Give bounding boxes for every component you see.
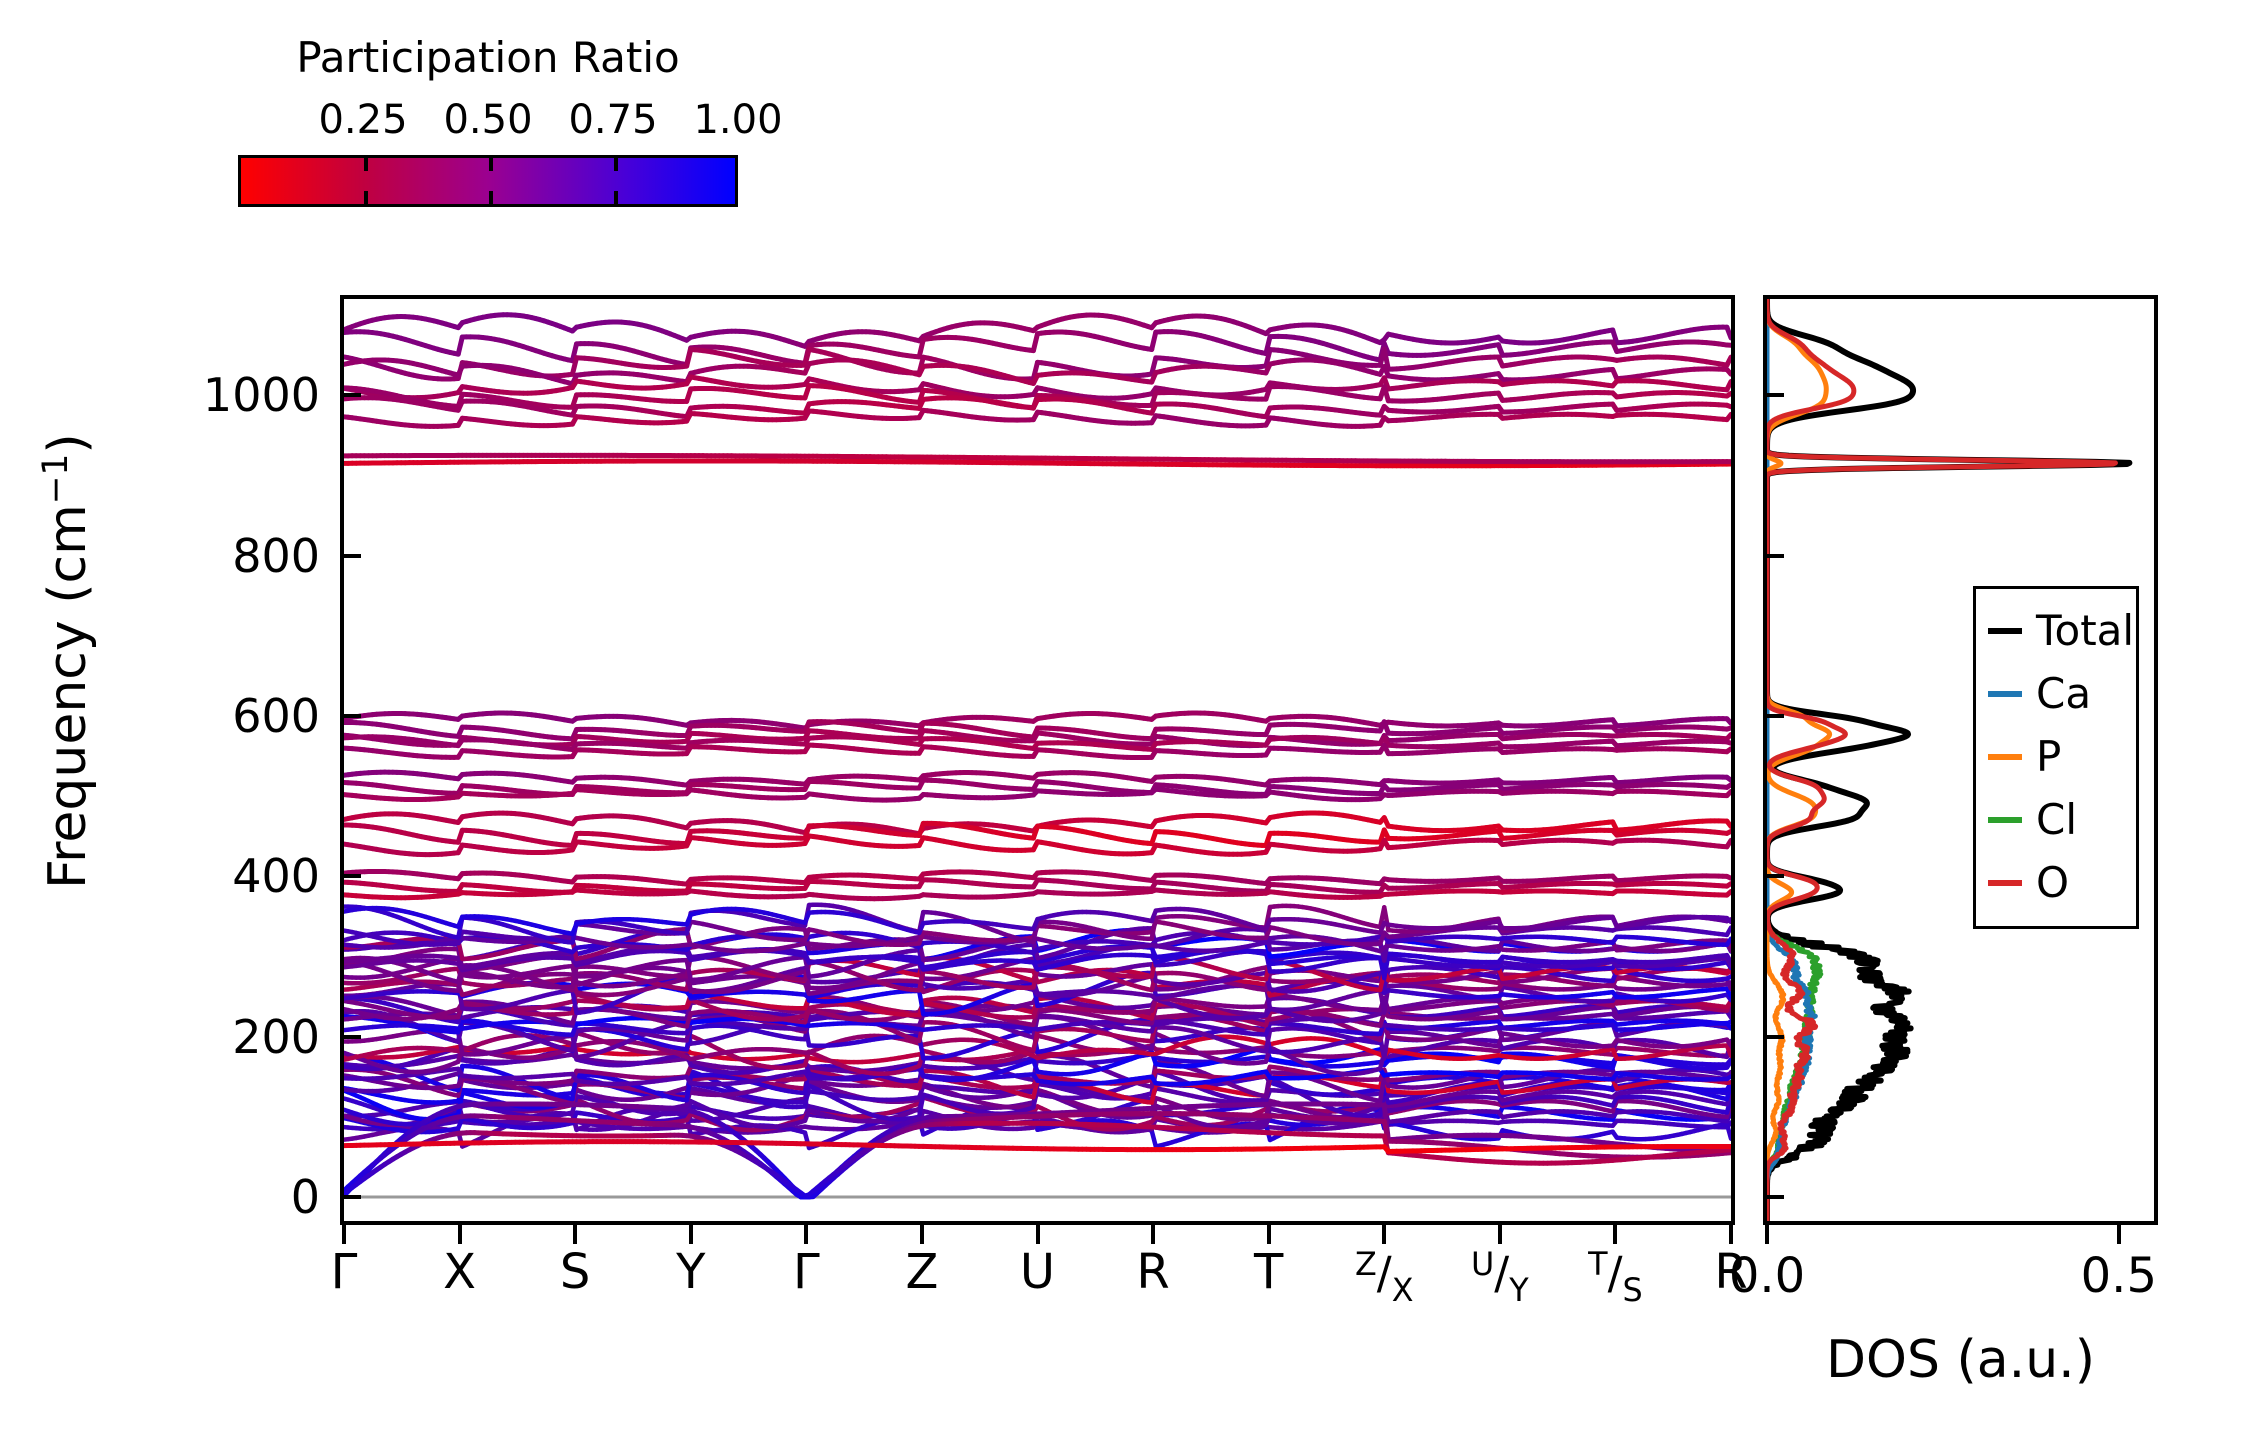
band-structure-plot-area [344,299,1731,1221]
y-tick-mark [344,1035,361,1039]
legend-color-swatch [1988,754,2022,760]
legend-item-ca[interactable]: Ca [1988,662,2124,725]
legend-label: O [2036,862,2069,904]
x-tick-label: Z [905,1248,938,1296]
colorbar-gradient [238,155,738,207]
x-tick-mark [689,1225,693,1244]
colorbar-tick-mark [364,191,368,204]
legend-label: Total [2036,610,2134,652]
dos-y-tick-mark [1767,554,1784,558]
legend-label: P [2036,736,2061,778]
x-tick-label: Γ [793,1248,820,1296]
y-tick-mark [344,393,361,397]
x-tick-label: Γ [331,1248,358,1296]
x-tick-mark [1036,1225,1040,1244]
x-tick-label: X [443,1248,476,1296]
dos-y-tick-mark [1767,874,1784,878]
x-tick-mark [458,1225,462,1244]
band-y-tick-marks [344,295,364,1225]
y-tick-mark [344,1195,361,1199]
dos-y-tick-mark [1767,393,1784,397]
colorbar-tick-labels: 0.250.500.751.00 [238,97,738,147]
x-tick-label: T [1254,1248,1283,1296]
legend-item-o[interactable]: O [1988,851,2124,914]
y-tick-label: 400 [232,849,320,903]
x-tick-label: Y [676,1248,705,1296]
x-tick-label: Z/X [1355,1248,1413,1307]
y-tick-label: 200 [232,1010,320,1064]
colorbar-tick-mark [614,191,618,204]
x-tick-label: U/Y [1471,1248,1529,1307]
participation-ratio-colorbar: Participation Ratio 0.250.500.751.00 [238,25,738,245]
dos-legend: TotalCaPClO [1973,586,2139,929]
dos-x-tick-marks [1763,1225,2158,1247]
phonon-figure: Participation Ratio 0.250.500.751.00 Fre… [0,0,2262,1455]
y-tick-mark [344,874,361,878]
x-tick-mark [573,1225,577,1244]
y-tick-label: 800 [232,529,320,583]
dos-x-tick-labels: 0.00.5 [1763,1248,2158,1318]
dos-x-tick-label: 0.5 [2081,1248,2157,1304]
colorbar-tick-label: 0.75 [568,97,657,143]
dos-x-tick-mark [1765,1225,1769,1244]
x-tick-mark [1382,1225,1386,1244]
colorbar-tick-mark [364,158,368,171]
y-tick-mark [344,554,361,558]
y-tick-label: 1000 [203,368,320,422]
band-y-tick-labels: 02004006008001000 [110,295,320,1225]
x-tick-label: R [1136,1248,1169,1296]
x-tick-mark [920,1225,924,1244]
x-tick-mark [804,1225,808,1244]
legend-item-cl[interactable]: Cl [1988,788,2124,851]
dos-y-tick-mark [1767,714,1784,718]
legend-label: Ca [2036,673,2091,715]
legend-color-swatch [1988,628,2022,634]
legend-item-p[interactable]: P [1988,725,2124,788]
x-tick-label: T/S [1588,1248,1643,1307]
y-tick-mark [344,714,361,718]
y-tick-label: 600 [232,689,320,743]
colorbar-tick-label: 1.00 [693,97,782,143]
legend-item-total[interactable]: Total [1988,599,2124,662]
legend-color-swatch [1988,880,2022,886]
x-tick-mark [1267,1225,1271,1244]
dos-y-tick-marks [1767,295,1787,1225]
legend-label: Cl [2036,799,2077,841]
dos-x-tick-label: 0.0 [1729,1248,1805,1304]
colorbar-tick-mark [489,191,493,204]
y-tick-label: 0 [291,1170,320,1224]
x-tick-label: S [560,1248,590,1296]
x-tick-mark [1613,1225,1617,1244]
dos-y-tick-mark [1767,1195,1784,1199]
x-tick-mark [342,1225,346,1244]
colorbar-tick-label: 0.25 [318,97,407,143]
colorbar-tick-label: 0.50 [443,97,532,143]
dos-x-axis-label: DOS (a.u.) [1763,1330,2158,1390]
legend-color-swatch [1988,817,2022,823]
colorbar-tick-mark [489,158,493,171]
dos-y-tick-mark [1767,1035,1784,1039]
x-tick-mark [1729,1225,1733,1244]
colorbar-title: Participation Ratio [238,33,738,82]
band-x-tick-labels: ΓXSYΓZURTZ/XU/YT/SR [340,1248,1735,1318]
x-tick-label: U [1020,1248,1055,1296]
band-y-axis-label: Frequency (cm−1) [36,341,98,981]
colorbar-tick-mark [614,158,618,171]
x-tick-mark [1151,1225,1155,1244]
x-tick-mark [1498,1225,1502,1244]
phonon-band-structure-panel [340,295,1735,1225]
legend-color-swatch [1988,691,2022,697]
dos-x-tick-mark [2117,1225,2121,1244]
